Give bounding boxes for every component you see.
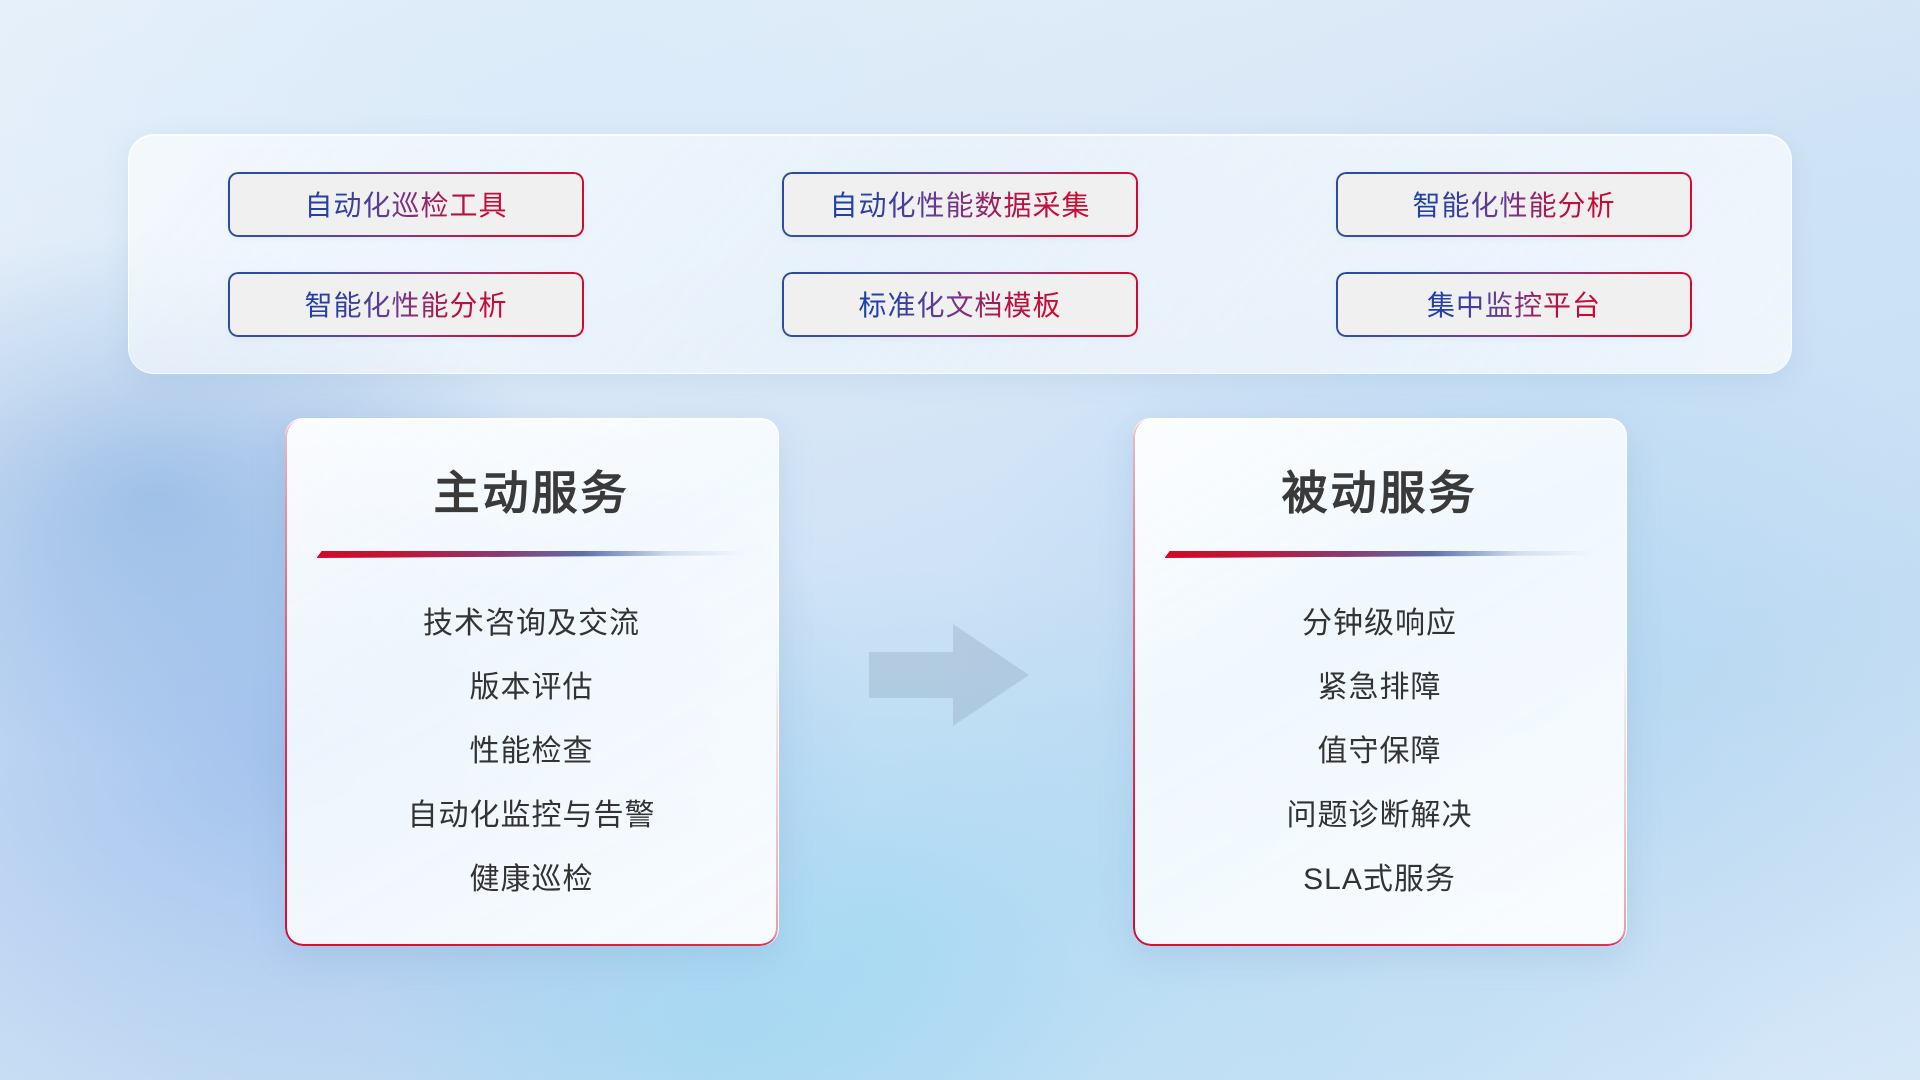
list-item: SLA式服务 xyxy=(1133,848,1626,912)
list-item: 自动化监控与告警 xyxy=(285,784,778,848)
service-card-active: 主动服务 技术咨询及交流 版本评估 性能检查 自动化监控与告警 健康巡检 xyxy=(285,418,779,946)
card-divider xyxy=(317,551,747,558)
capability-tag-label: 标准化文档模板 xyxy=(858,284,1061,324)
capability-tag-standardized-document-template[interactable]: 标准化文档模板 xyxy=(782,272,1138,337)
list-item: 性能检查 xyxy=(285,720,778,784)
capability-tag-automated-performance-data-collection[interactable]: 自动化性能数据采集 xyxy=(782,172,1138,237)
capabilities-panel: 自动化巡检工具 自动化性能数据采集 智能化性能分析 智能化性能分析 标准化文档模… xyxy=(128,134,1792,374)
list-item: 值守保障 xyxy=(1133,720,1626,784)
capability-tag-label: 自动化巡检工具 xyxy=(304,184,507,224)
capability-tag-centralized-monitoring-platform[interactable]: 集中监控平台 xyxy=(1336,272,1692,337)
service-card-passive: 被动服务 分钟级响应 紧急排障 值守保障 问题诊断解决 SLA式服务 xyxy=(1133,418,1627,946)
card-title-passive: 被动服务 xyxy=(1133,457,1626,523)
service-list-active: 技术咨询及交流 版本评估 性能检查 自动化监控与告警 健康巡检 xyxy=(285,592,778,912)
flow-arrow xyxy=(865,620,1033,730)
capability-tag-automated-inspection-tool[interactable]: 自动化巡检工具 xyxy=(228,172,584,237)
list-item: 技术咨询及交流 xyxy=(285,592,778,656)
list-item: 紧急排障 xyxy=(1133,656,1626,720)
list-item: 版本评估 xyxy=(285,656,778,720)
capability-tag-label: 自动化性能数据采集 xyxy=(829,184,1090,224)
slide-canvas: 自动化巡检工具 自动化性能数据采集 智能化性能分析 智能化性能分析 标准化文档模… xyxy=(0,0,1920,1080)
card-divider xyxy=(1165,551,1595,558)
list-item: 健康巡检 xyxy=(285,848,778,912)
capability-tag-intelligent-performance-analysis-top[interactable]: 智能化性能分析 xyxy=(1336,172,1692,237)
arrow-right-icon xyxy=(865,620,1033,730)
card-title-active: 主动服务 xyxy=(285,457,778,523)
list-item: 分钟级响应 xyxy=(1133,592,1626,656)
capability-tag-intelligent-performance-analysis[interactable]: 智能化性能分析 xyxy=(228,272,584,337)
capability-tag-label: 智能化性能分析 xyxy=(1412,184,1615,224)
list-item: 问题诊断解决 xyxy=(1133,784,1626,848)
capabilities-row-2: 智能化性能分析 标准化文档模板 集中监控平台 xyxy=(129,272,1791,336)
service-list-passive: 分钟级响应 紧急排障 值守保障 问题诊断解决 SLA式服务 xyxy=(1133,592,1626,912)
capabilities-row-1: 自动化巡检工具 自动化性能数据采集 智能化性能分析 xyxy=(129,172,1791,236)
capability-tag-label: 集中监控平台 xyxy=(1427,284,1601,324)
capability-tag-label: 智能化性能分析 xyxy=(304,284,507,324)
